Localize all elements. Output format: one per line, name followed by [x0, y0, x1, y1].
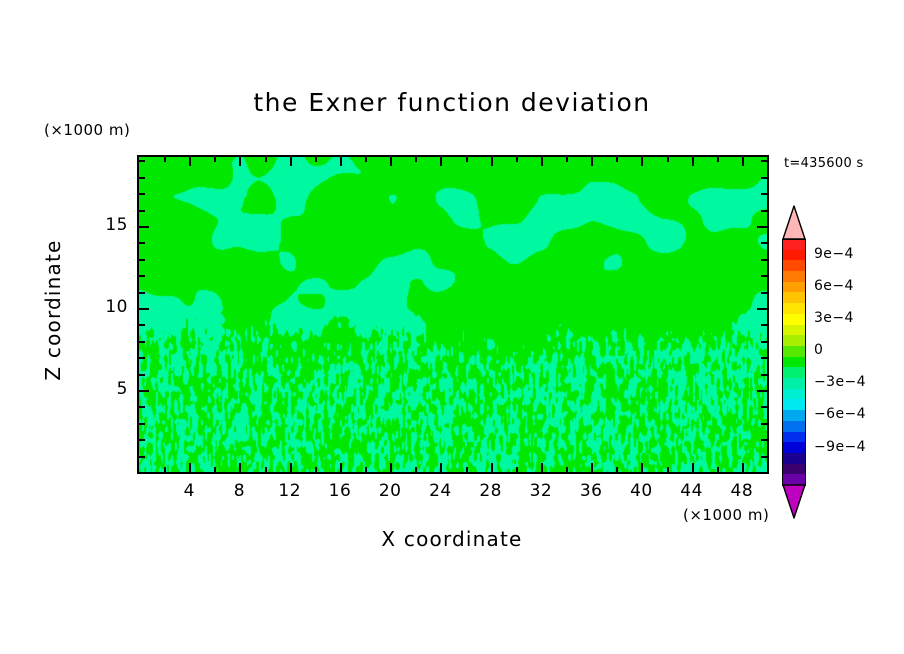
y-tick-minor-right [761, 160, 767, 162]
x-tick-label: 24 [420, 481, 460, 501]
x-tick-major-top [541, 157, 543, 166]
x-tick-minor [164, 467, 166, 472]
colorbar-tick-label: −9e−4 [814, 439, 866, 455]
y-tick-major-right [757, 390, 767, 392]
y-tick-minor [139, 242, 145, 244]
y-tick-minor-right [761, 341, 767, 343]
x-tick-minor-top [616, 157, 618, 162]
x-tick-major-top [641, 157, 643, 166]
x-tick-minor-top [566, 157, 568, 162]
x-tick-label: 44 [672, 481, 712, 501]
y-tick-minor-right [761, 292, 767, 294]
x-tick-major [742, 463, 744, 472]
y-tick-minor [139, 292, 145, 294]
x-tick-minor-top [214, 157, 216, 162]
y-tick-minor-right [761, 357, 767, 359]
y-tick-minor-right [761, 456, 767, 458]
contour-plot-area [137, 155, 769, 474]
y-tick-minor-right [761, 259, 767, 261]
colorbar [782, 239, 806, 485]
x-tick-major [390, 463, 392, 472]
x-tick-minor-top [466, 157, 468, 162]
x-tick-major [340, 463, 342, 472]
y-tick-minor [139, 324, 145, 326]
x-tick-major-top [491, 157, 493, 166]
y-tick-minor [139, 193, 145, 195]
x-tick-label: 12 [270, 481, 310, 501]
y-tick-major [139, 308, 149, 310]
x-tick-major [440, 463, 442, 472]
y-tick-minor-right [761, 210, 767, 212]
colorbar-tick-label: 0 [814, 342, 823, 358]
x-tick-label: 36 [571, 481, 611, 501]
page-title: the Exner function deviation [0, 88, 904, 117]
x-tick-minor-top [415, 157, 417, 162]
y-tick-minor [139, 374, 145, 376]
x-tick-major-top [239, 157, 241, 166]
y-tick-minor-right [761, 275, 767, 277]
x-tick-minor [365, 467, 367, 472]
y-tick-major-right [757, 226, 767, 228]
x-tick-major-top [440, 157, 442, 166]
x-tick-major [692, 463, 694, 472]
x-tick-label: 40 [621, 481, 661, 501]
x-tick-minor [415, 467, 417, 472]
y-tick-label: 15 [88, 215, 128, 235]
y-tick-minor-right [761, 423, 767, 425]
y-tick-minor [139, 275, 145, 277]
x-tick-major-top [591, 157, 593, 166]
x-tick-label: 28 [471, 481, 511, 501]
colorbar-tick-label: −3e−4 [814, 374, 866, 390]
x-tick-minor [516, 467, 518, 472]
x-tick-minor [717, 467, 719, 472]
y-tick-minor-right [761, 406, 767, 408]
x-tick-minor [566, 467, 568, 472]
x-tick-major [239, 463, 241, 472]
y-tick-minor [139, 341, 145, 343]
y-tick-major [139, 390, 149, 392]
y-tick-minor-right [761, 242, 767, 244]
x-tick-label: 16 [320, 481, 360, 501]
x-tick-minor-top [164, 157, 166, 162]
x-tick-label: 48 [722, 481, 762, 501]
colorbar-tick-label: 9e−4 [814, 246, 854, 262]
y-tick-minor [139, 439, 145, 441]
y-tick-minor [139, 456, 145, 458]
x-tick-label: 8 [219, 481, 259, 501]
contour-field-canvas [139, 157, 767, 472]
y-tick-label: 10 [88, 297, 128, 317]
x-tick-major-top [290, 157, 292, 166]
x-tick-minor-top [365, 157, 367, 162]
x-tick-major-top [189, 157, 191, 166]
x-axis-unit-label: (×1000 m) [683, 506, 769, 524]
timestamp-annotation: t=435600 s [784, 156, 864, 171]
y-tick-minor-right [761, 374, 767, 376]
x-tick-major [189, 463, 191, 472]
x-axis-title: X coordinate [0, 527, 904, 551]
colorbar-tick-label: 3e−4 [814, 310, 854, 326]
x-tick-label: 20 [370, 481, 410, 501]
x-tick-major [541, 463, 543, 472]
x-tick-minor [667, 467, 669, 472]
x-tick-minor-top [667, 157, 669, 162]
y-tick-label: 5 [88, 379, 128, 399]
y-axis-unit-label: (×1000 m) [44, 121, 130, 139]
x-tick-minor-top [315, 157, 317, 162]
y-tick-minor [139, 259, 145, 261]
y-tick-minor-right [761, 193, 767, 195]
x-tick-major-top [340, 157, 342, 166]
x-tick-major [641, 463, 643, 472]
x-tick-minor-top [717, 157, 719, 162]
y-tick-minor [139, 423, 145, 425]
x-tick-major-top [390, 157, 392, 166]
x-tick-minor-top [516, 157, 518, 162]
x-tick-label: 4 [169, 481, 209, 501]
x-tick-minor [466, 467, 468, 472]
colorbar-tick-label: 6e−4 [814, 278, 854, 294]
x-tick-minor [315, 467, 317, 472]
y-axis-title: Z coordinate [41, 220, 65, 400]
y-tick-minor-right [761, 324, 767, 326]
x-tick-minor [616, 467, 618, 472]
colorbar-bottom-arrow-cap [782, 484, 806, 519]
y-tick-major-right [757, 308, 767, 310]
x-tick-label: 32 [521, 481, 561, 501]
x-tick-major [491, 463, 493, 472]
colorbar-tick-label: −6e−4 [814, 406, 866, 422]
x-tick-major [591, 463, 593, 472]
y-tick-minor [139, 406, 145, 408]
x-tick-major-top [742, 157, 744, 166]
y-tick-minor [139, 357, 145, 359]
colorbar-top-arrow-cap [782, 205, 806, 240]
y-tick-minor [139, 210, 145, 212]
x-tick-major [290, 463, 292, 472]
y-tick-minor-right [761, 177, 767, 179]
y-tick-minor [139, 160, 145, 162]
y-tick-minor [139, 177, 145, 179]
y-tick-minor-right [761, 439, 767, 441]
x-tick-minor [265, 467, 267, 472]
x-tick-minor-top [265, 157, 267, 162]
y-tick-major [139, 226, 149, 228]
x-tick-minor [214, 467, 216, 472]
x-tick-major-top [692, 157, 694, 166]
